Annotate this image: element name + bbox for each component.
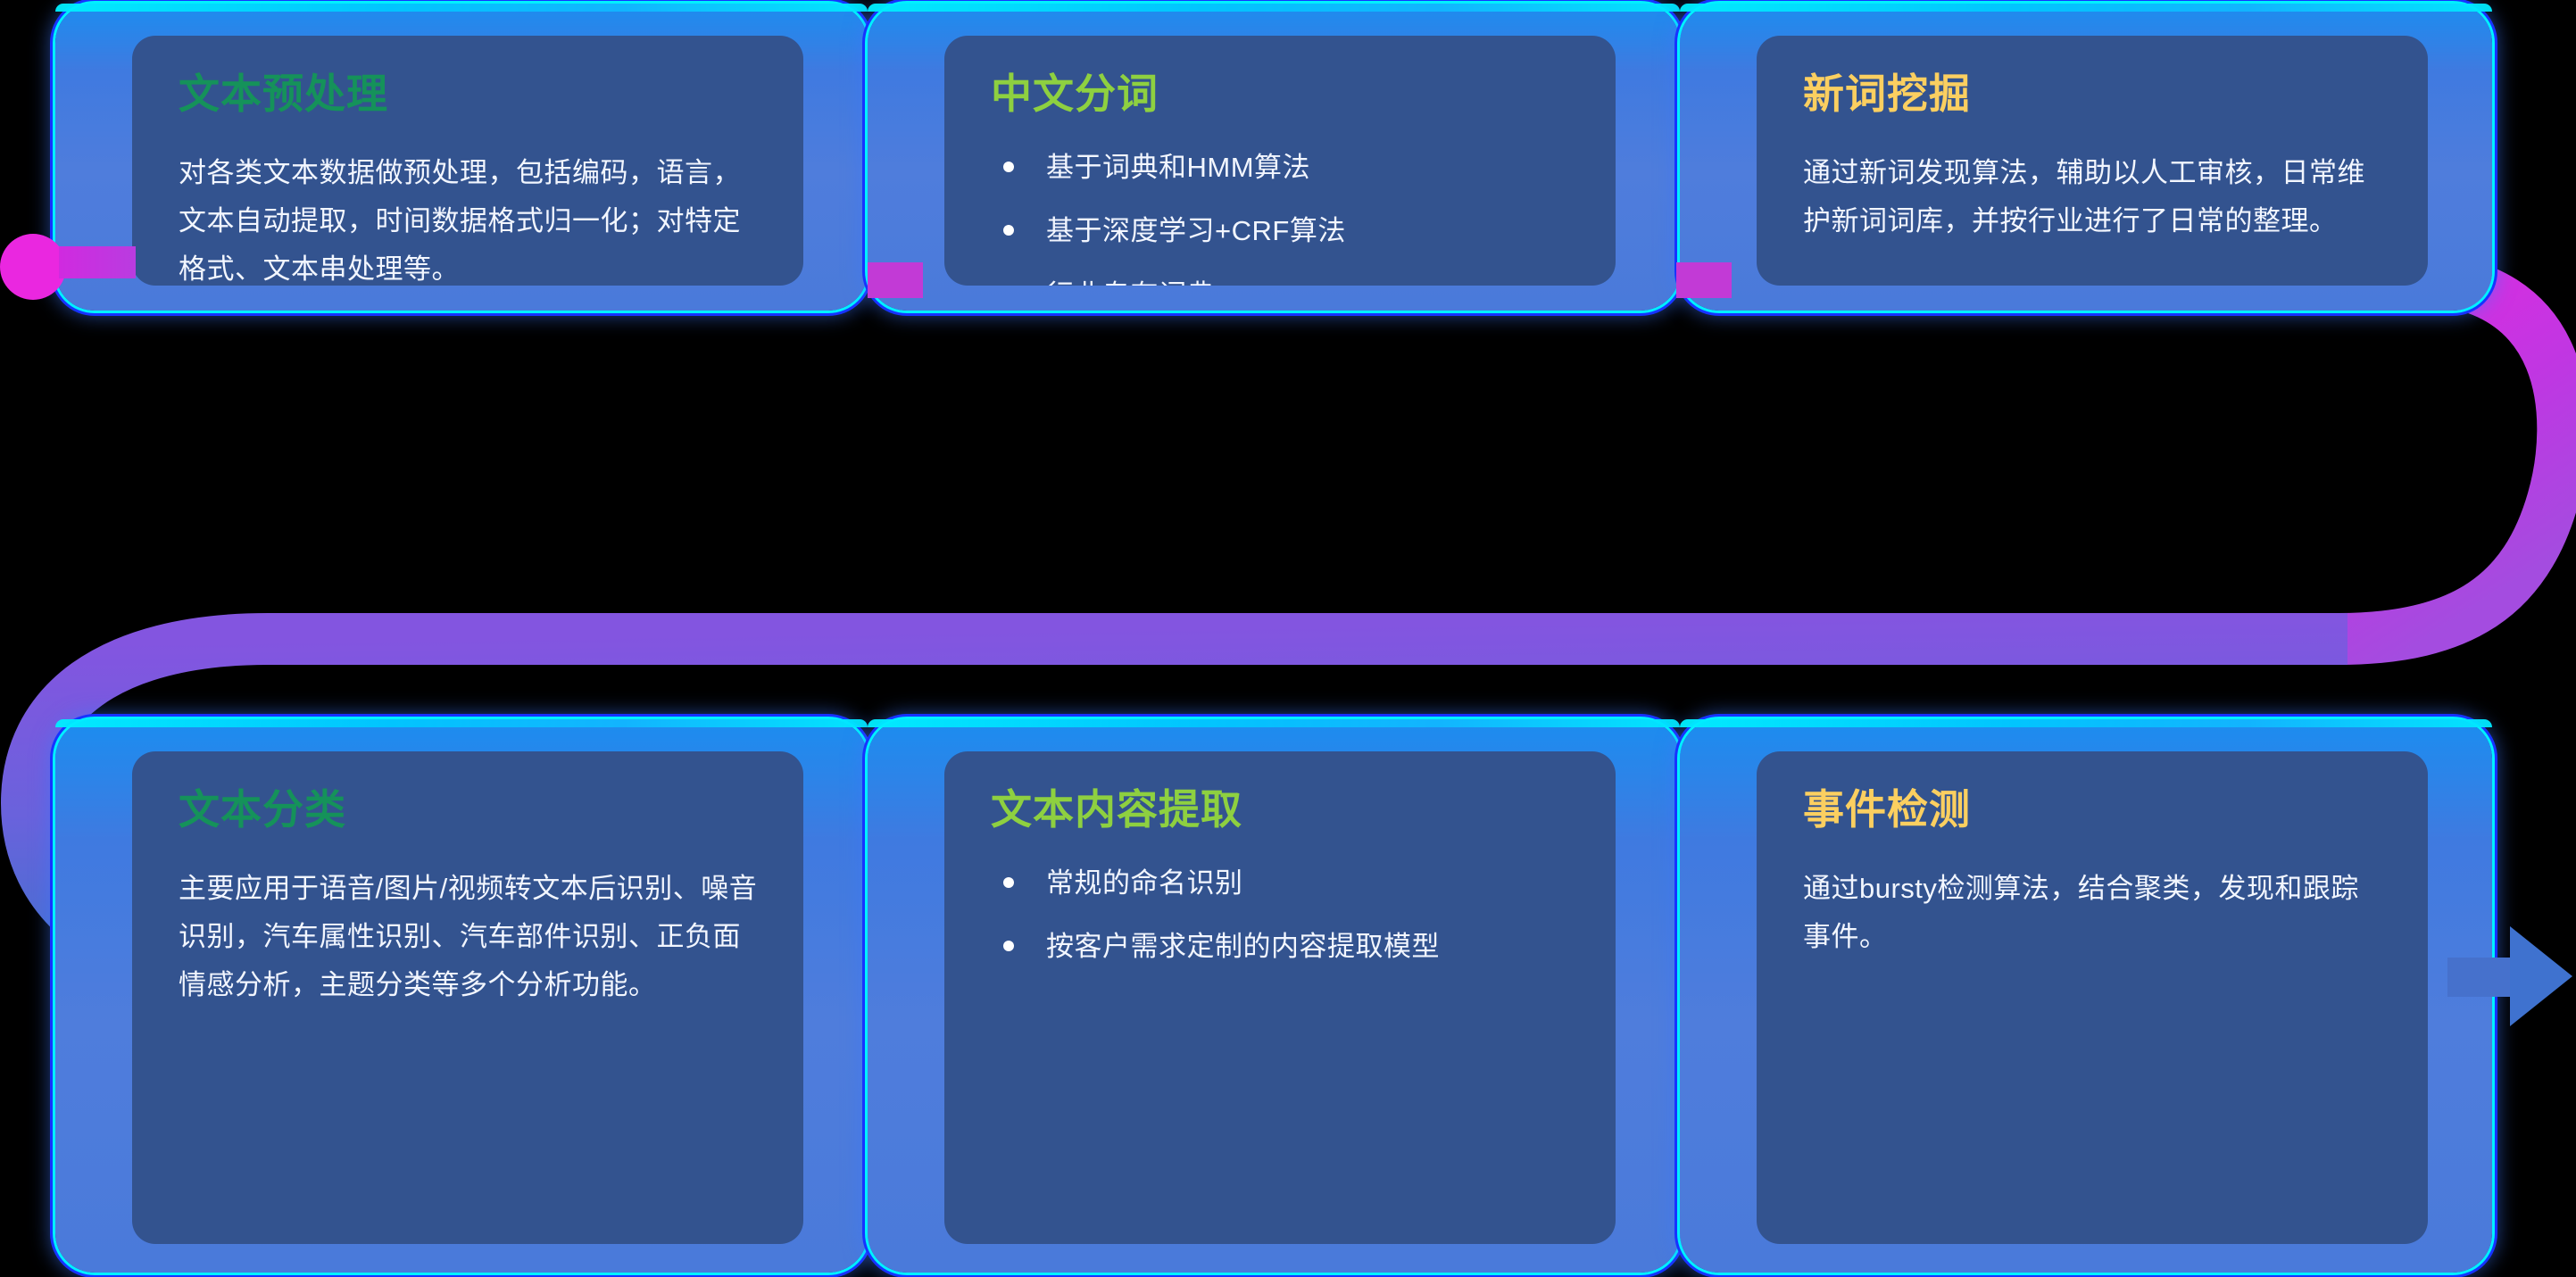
node-title: 中文分词 — [991, 71, 1573, 117]
diagram-canvas: 文本预处理 对各类文本数据做预处理，包括编码，语言，文本自动提取，时间数据格式归… — [0, 0, 2576, 1277]
list-item: 常规的命名识别 — [991, 865, 1573, 902]
flow-end-arrow-bar — [2447, 958, 2519, 997]
list-item: 基于词典和HMM算法 — [991, 149, 1573, 187]
node-description: 对各类文本数据做预处理，包括编码，语言，文本自动提取，时间数据格式归一化；对特定… — [179, 149, 760, 286]
node-description: 通过新词发现算法，辅助以人工审核，日常维护新词词库，并按行业进行了日常的整理。 — [1803, 149, 2385, 246]
flow-start-dot — [0, 234, 66, 300]
list-item: 基于深度学习+CRF算法 — [991, 212, 1573, 250]
node-card-text-content-extraction[interactable]: 文本内容提取 常规的命名识别 按客户需求定制的内容提取模型 — [944, 751, 1616, 1244]
node-card-new-word-discovery[interactable]: 新词挖掘 通过新词发现算法，辅助以人工审核，日常维护新词词库，并按行业进行了日常… — [1757, 36, 2428, 286]
node-description: 主要应用于语音/图片/视频转文本后识别、噪音识别，汽车属性识别、汽车部件识别、正… — [179, 865, 760, 1010]
node-card-event-detection[interactable]: 事件检测 通过bursty检测算法，结合聚类，发现和跟踪事件。 — [1757, 751, 2428, 1244]
node-card-text-classification[interactable]: 文本分类 主要应用于语音/图片/视频转文本后识别、噪音识别，汽车属性识别、汽车部… — [132, 751, 803, 1244]
node-title: 文本内容提取 — [991, 787, 1573, 833]
node-bullet-list: 基于词典和HMM算法 基于深度学习+CRF算法 行业专有词典 — [991, 149, 1573, 286]
node-title: 文本预处理 — [179, 71, 760, 117]
list-item: 按客户需求定制的内容提取模型 — [991, 928, 1573, 966]
node-card-chinese-word-segmentation[interactable]: 中文分词 基于词典和HMM算法 基于深度学习+CRF算法 行业专有词典 — [944, 36, 1616, 286]
node-card-text-preprocessing[interactable]: 文本预处理 对各类文本数据做预处理，包括编码，语言，文本自动提取，时间数据格式归… — [132, 36, 803, 286]
connector-chip-1 — [868, 262, 923, 298]
connector-chip-2 — [1676, 262, 1732, 298]
node-title: 新词挖掘 — [1803, 71, 2385, 117]
node-description: 通过bursty检测算法，结合聚类，发现和跟踪事件。 — [1803, 865, 2385, 962]
flow-end-arrow-icon — [2510, 926, 2572, 1026]
connector-right-wrap-curve — [2339, 278, 2563, 639]
list-item: 行业专有词典 — [991, 277, 1573, 286]
node-title: 文本分类 — [179, 787, 760, 833]
node-bullet-list: 常规的命名识别 按客户需求定制的内容提取模型 — [991, 865, 1573, 966]
flow-start-stub — [59, 246, 136, 278]
node-title: 事件检测 — [1803, 787, 2385, 833]
